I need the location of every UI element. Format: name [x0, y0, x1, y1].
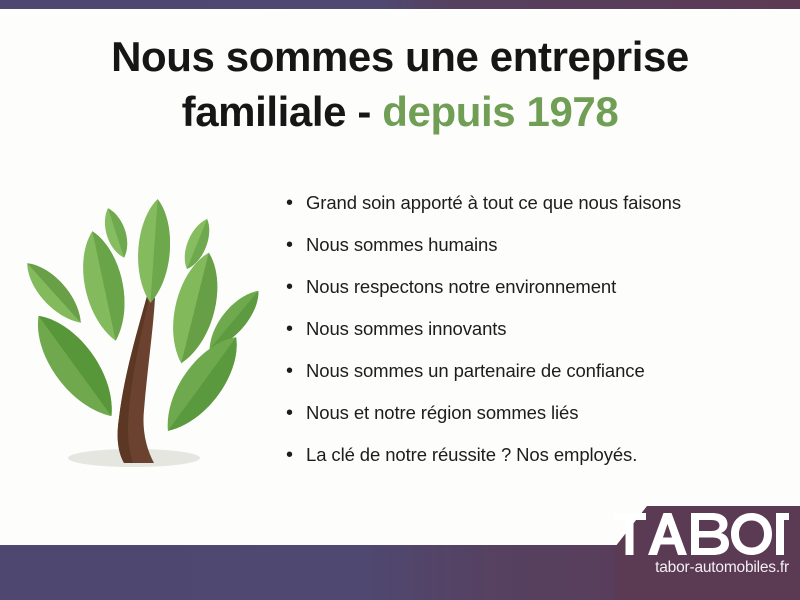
list-item-label: Nous respectons notre environnement: [306, 276, 616, 298]
list-item-label: Nous et notre région sommes liés: [306, 402, 578, 424]
bullet-point-icon: •: [286, 193, 306, 213]
bullet-point-icon: •: [286, 319, 306, 339]
bullet-point-icon: •: [286, 403, 306, 423]
tabor-logo: [613, 513, 789, 555]
headline-dash: -: [357, 88, 371, 135]
list-item-label: Nous sommes innovants: [306, 318, 506, 340]
leaf-far-left: [18, 255, 90, 331]
list-item: • La clé de notre réussite ? Nos employé…: [286, 444, 766, 486]
headline-line-1: Nous sommes une entreprise: [111, 33, 689, 80]
headline-accent-year: depuis 1978: [382, 88, 618, 135]
logo-tagline: tabor-automobiles.fr: [613, 559, 789, 577]
leaf-lower-right: [152, 326, 252, 443]
top-accent-bar: [0, 0, 800, 9]
values-bullet-list: • Grand soin apporté à tout ce que nous …: [286, 192, 766, 486]
page-title: Nous sommes une entreprise familiale - d…: [40, 30, 760, 139]
list-item-label: La clé de notre réussite ? Nos employés.: [306, 444, 637, 466]
bullet-point-icon: •: [286, 235, 306, 255]
leaf-top-center: [135, 198, 174, 304]
list-item-label: Grand soin apporté à tout ce que nous fa…: [306, 192, 681, 214]
list-item: • Nous sommes un partenaire de confiance: [286, 360, 766, 402]
bullet-point-icon: •: [286, 445, 306, 465]
list-item: • Nous sommes humains: [286, 234, 766, 276]
headline-line-2-plain: familiale: [182, 88, 346, 135]
list-item: • Nous respectons notre environnement: [286, 276, 766, 318]
list-item: • Grand soin apporté à tout ce que nous …: [286, 192, 766, 234]
list-item: • Nous sommes innovants: [286, 318, 766, 360]
list-item: • Nous et notre région sommes liés: [286, 402, 766, 444]
bullet-point-icon: •: [286, 277, 306, 297]
slide-canvas: Nous sommes une entreprise familiale - d…: [0, 0, 800, 600]
list-item-label: Nous sommes humains: [306, 234, 497, 256]
list-item-label: Nous sommes un partenaire de confiance: [306, 360, 645, 382]
tree-icon: [12, 186, 270, 486]
bullet-point-icon: •: [286, 361, 306, 381]
